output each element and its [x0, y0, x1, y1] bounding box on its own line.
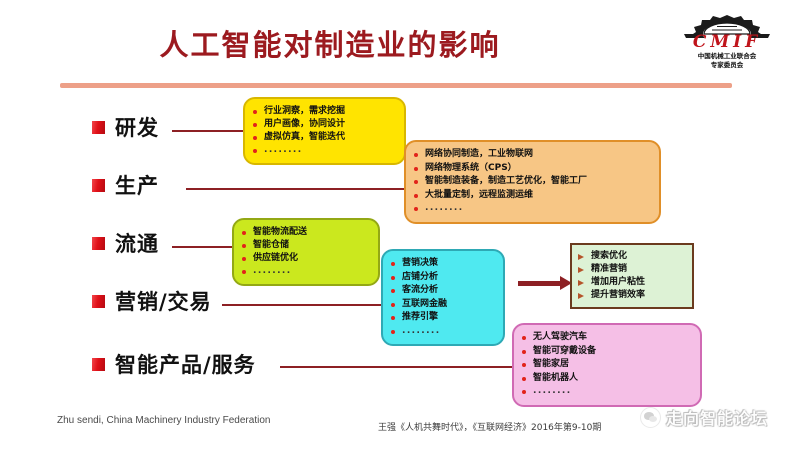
bullet-dot-icon — [414, 207, 418, 211]
content-list-smart-products: 无人驾驶汽车 智能可穿戴设备 智能家居 智能机器人 ........ — [522, 331, 692, 399]
footer-attribution: Zhu sendi, China Machinery Industry Fede… — [57, 415, 270, 426]
list-item: 精准营销 — [578, 263, 686, 276]
list-item-label: 营销决策 — [402, 257, 438, 271]
list-item-label: 增加用户粘性 — [591, 276, 645, 289]
list-item-label: 网络协同制造，工业物联网 — [425, 148, 533, 162]
cmif-logo: CMIF 中国机械工业联合会 专家委员会 — [668, 14, 786, 76]
list-item-label: 智能制造装备，制造工艺优化，智能工厂 — [425, 175, 587, 189]
stage-item-production: 生产 — [92, 170, 159, 200]
content-box-outcomes: 搜索优化 精准营销 增加用户粘性 提升营销效率 — [570, 243, 694, 309]
logo-subtitle-line2: 专家委员会 — [668, 61, 786, 70]
square-bullet-icon — [92, 295, 105, 308]
square-bullet-icon — [92, 121, 105, 134]
bullet-dot-icon — [414, 194, 418, 198]
stage-label: 营销/交易 — [115, 286, 212, 316]
list-item-label: 智能仓储 — [253, 239, 289, 252]
list-item: 无人驾驶汽车 — [522, 331, 692, 345]
content-list-production: 网络协同制造，工业物联网 网络物理系统（CPS） 智能制造装备，制造工艺优化，智… — [414, 148, 651, 216]
stage-item-logistics: 流通 — [92, 228, 159, 258]
list-item-label: 智能物流配送 — [253, 226, 307, 239]
list-item: ........ — [242, 265, 370, 278]
list-item-label: 客流分析 — [402, 284, 438, 298]
content-box-rd: 行业洞察，需求挖掘 用户画像，协同设计 虚拟仿真，智能迭代 ........ — [243, 97, 406, 165]
list-item-label: 智能可穿戴设备 — [533, 345, 596, 359]
logo-subtitle-line1: 中国机械工业联合会 — [668, 52, 786, 61]
list-item: 增加用户粘性 — [578, 276, 686, 289]
stage-label: 研发 — [115, 112, 159, 142]
list-item: 网络物理系统（CPS） — [414, 162, 651, 176]
connector-smart-products — [280, 366, 516, 368]
bullet-dot-icon — [242, 270, 246, 274]
list-item: 客流分析 — [391, 284, 495, 298]
list-item-label: ........ — [253, 265, 292, 278]
list-item: 智能物流配送 — [242, 226, 370, 239]
arrow-bullet-icon — [578, 280, 584, 286]
wechat-icon — [640, 407, 661, 428]
bullet-dot-icon — [522, 350, 526, 354]
stage-item-marketing: 营销/交易 — [92, 286, 212, 316]
footer-source: 王强《人机共舞时代》，《互联网经济》2016年第9-10期 — [378, 420, 601, 433]
square-bullet-icon — [92, 358, 105, 371]
bullet-dot-icon — [253, 110, 257, 114]
list-item: 智能可穿戴设备 — [522, 345, 692, 359]
bullet-dot-icon — [242, 257, 246, 261]
list-item-label: 供应链优化 — [253, 252, 298, 265]
content-box-production: 网络协同制造，工业物联网 网络物理系统（CPS） 智能制造装备，制造工艺优化，智… — [404, 140, 661, 224]
list-item-label: 推荐引擎 — [402, 311, 438, 325]
content-box-logistics: 智能物流配送 智能仓储 供应链优化 ........ — [232, 218, 380, 286]
list-item-label: ........ — [264, 144, 303, 157]
list-item-label: 店铺分析 — [402, 271, 438, 285]
list-item-label: 提升营销效率 — [591, 289, 645, 302]
bullet-dot-icon — [391, 276, 395, 280]
list-item: 智能机器人 — [522, 372, 692, 386]
list-item-label: ........ — [402, 325, 441, 339]
bullet-dot-icon — [391, 316, 395, 320]
bullet-dot-icon — [522, 377, 526, 381]
square-bullet-icon — [92, 237, 105, 250]
stage-label: 智能产品/服务 — [115, 349, 256, 379]
bullet-dot-icon — [391, 330, 395, 334]
bullet-dot-icon — [391, 262, 395, 266]
title-divider — [60, 83, 732, 88]
list-item: ........ — [253, 144, 396, 157]
list-item: 互联网金融 — [391, 298, 495, 312]
list-item-label: 互联网金融 — [402, 298, 447, 312]
list-item-label: 大批量定制，远程监测运维 — [425, 189, 533, 203]
list-item-label: 搜索优化 — [591, 250, 627, 263]
bullet-dot-icon — [242, 244, 246, 248]
connector-logistics — [172, 246, 238, 248]
connector-marketing — [222, 304, 385, 306]
bullet-dot-icon — [522, 390, 526, 394]
watermark-label: 走向智能论坛 — [666, 405, 768, 429]
content-box-marketing: 营销决策 店铺分析 客流分析 互联网金融 推荐引擎 ........ — [381, 249, 505, 346]
list-item: 智能制造装备，制造工艺优化，智能工厂 — [414, 175, 651, 189]
bullet-dot-icon — [253, 149, 257, 153]
list-item: 网络协同制造，工业物联网 — [414, 148, 651, 162]
square-bullet-icon — [92, 179, 105, 192]
list-item: 智能仓储 — [242, 239, 370, 252]
list-item-label: 网络物理系统（CPS） — [425, 162, 517, 176]
list-item: ........ — [414, 202, 651, 216]
list-item-label: 无人驾驶汽车 — [533, 331, 587, 345]
stage-item-rd: 研发 — [92, 112, 159, 142]
bullet-dot-icon — [242, 231, 246, 235]
content-list-marketing: 营销决策 店铺分析 客流分析 互联网金融 推荐引擎 ........ — [391, 257, 495, 338]
bullet-dot-icon — [253, 123, 257, 127]
arrow-bullet-icon — [578, 293, 584, 299]
connector-production — [186, 188, 408, 190]
arrow-bullet-icon — [578, 267, 584, 273]
list-item: 智能家居 — [522, 358, 692, 372]
list-item: 搜索优化 — [578, 250, 686, 263]
content-box-smart-products: 无人驾驶汽车 智能可穿戴设备 智能家居 智能机器人 ........ — [512, 323, 702, 407]
bullet-dot-icon — [414, 153, 418, 157]
arrow-bullet-icon — [578, 254, 584, 260]
list-item: 提升营销效率 — [578, 289, 686, 302]
list-item-label: 用户画像，协同设计 — [264, 118, 345, 131]
list-item-label: ........ — [533, 385, 572, 399]
content-list-outcomes: 搜索优化 精准营销 增加用户粘性 提升营销效率 — [578, 250, 686, 302]
list-item: 行业洞察，需求挖掘 — [253, 105, 396, 118]
arrow-marketing-to-outcomes — [518, 281, 562, 286]
list-item: ........ — [522, 385, 692, 399]
bullet-dot-icon — [391, 303, 395, 307]
list-item-label: 智能家居 — [533, 358, 569, 372]
logo-subtitle: 中国机械工业联合会 专家委员会 — [668, 52, 786, 71]
list-item-label: 智能机器人 — [533, 372, 578, 386]
list-item-label: ........ — [425, 202, 464, 216]
bullet-dot-icon — [391, 289, 395, 293]
list-item: ........ — [391, 325, 495, 339]
list-item: 店铺分析 — [391, 271, 495, 285]
list-item: 营销决策 — [391, 257, 495, 271]
list-item-label: 行业洞察，需求挖掘 — [264, 105, 345, 118]
list-item: 供应链优化 — [242, 252, 370, 265]
bullet-dot-icon — [522, 336, 526, 340]
list-item-label: 精准营销 — [591, 263, 627, 276]
bullet-dot-icon — [522, 363, 526, 367]
stage-label: 生产 — [115, 170, 159, 200]
list-item: 用户画像，协同设计 — [253, 118, 396, 131]
stage-item-smart-products: 智能产品/服务 — [92, 349, 256, 379]
bullet-dot-icon — [414, 180, 418, 184]
list-item-label: 虚拟仿真，智能迭代 — [264, 131, 345, 144]
stage-label: 流通 — [115, 228, 159, 258]
logo-acronym: CMIF — [668, 34, 786, 51]
slide-canvas: 人工智能对制造业的影响 CMIF 中国机械工业联合会 专家委员会 研发 生产 流… — [0, 0, 800, 450]
list-item: 虚拟仿真，智能迭代 — [253, 131, 396, 144]
list-item: 推荐引擎 — [391, 311, 495, 325]
content-list-rd: 行业洞察，需求挖掘 用户画像，协同设计 虚拟仿真，智能迭代 ........ — [253, 105, 396, 157]
list-item: 大批量定制，远程监测运维 — [414, 189, 651, 203]
page-title: 人工智能对制造业的影响 — [0, 22, 660, 64]
connector-rd — [172, 130, 250, 132]
watermark: 走向智能论坛 — [640, 405, 768, 429]
bullet-dot-icon — [253, 136, 257, 140]
bullet-dot-icon — [414, 167, 418, 171]
content-list-logistics: 智能物流配送 智能仓储 供应链优化 ........ — [242, 226, 370, 278]
